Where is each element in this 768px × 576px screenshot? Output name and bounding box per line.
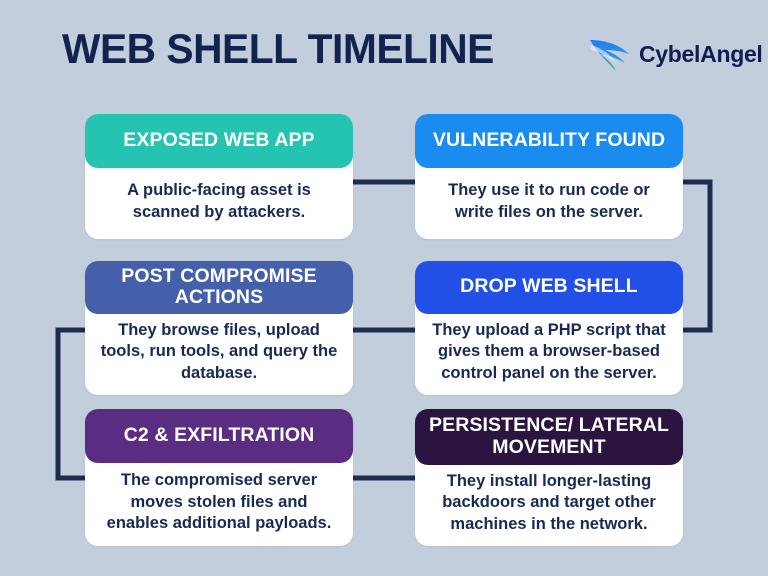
brand-logo: CybelAngel bbox=[588, 34, 763, 74]
card-c2-and-exfiltration[interactable]: C2 & EXFILTRATION The compromised server… bbox=[85, 409, 353, 546]
card-post-compromise-actions[interactable]: POST COMPROMISE ACTIONS They browse file… bbox=[85, 261, 353, 395]
card-header: PERSISTENCE/ LATERAL MOVEMENT bbox=[415, 409, 683, 465]
card-body-text: They upload a PHP script that gives them… bbox=[415, 314, 683, 395]
card-vulnerability-found[interactable]: VULNERABILITY FOUND They use it to run c… bbox=[415, 114, 683, 239]
card-body-text: They browse files, upload tools, run too… bbox=[85, 314, 353, 395]
card-header: DROP WEB SHELL bbox=[415, 261, 683, 314]
cybelangel-wing-icon bbox=[588, 35, 632, 73]
connector-u-bend-right bbox=[681, 182, 710, 330]
card-header: C2 & EXFILTRATION bbox=[85, 409, 353, 463]
brand-name: CybelAngel bbox=[639, 41, 763, 68]
infographic-canvas: WEB SHELL TIMELINE CybelAngel EXPOSED WE bbox=[0, 0, 768, 576]
connector-u-bend-left bbox=[58, 330, 88, 478]
card-drop-web-shell[interactable]: DROP WEB SHELL They upload a PHP script … bbox=[415, 261, 683, 395]
card-header: VULNERABILITY FOUND bbox=[415, 114, 683, 168]
card-exposed-web-app[interactable]: EXPOSED WEB APP A public-facing asset is… bbox=[85, 114, 353, 239]
card-body-text: A public-facing asset is scanned by atta… bbox=[85, 168, 353, 239]
card-persistence-lateral-movement[interactable]: PERSISTENCE/ LATERAL MOVEMENT They insta… bbox=[415, 409, 683, 546]
card-header: POST COMPROMISE ACTIONS bbox=[85, 261, 353, 314]
card-body-text: They install longer-lasting backdoors an… bbox=[415, 465, 683, 546]
page-title: WEB SHELL TIMELINE bbox=[62, 28, 494, 70]
card-header: EXPOSED WEB APP bbox=[85, 114, 353, 168]
card-body-text: They use it to run code or write files o… bbox=[415, 168, 683, 239]
card-body-text: The compromised server moves stolen file… bbox=[85, 463, 353, 546]
